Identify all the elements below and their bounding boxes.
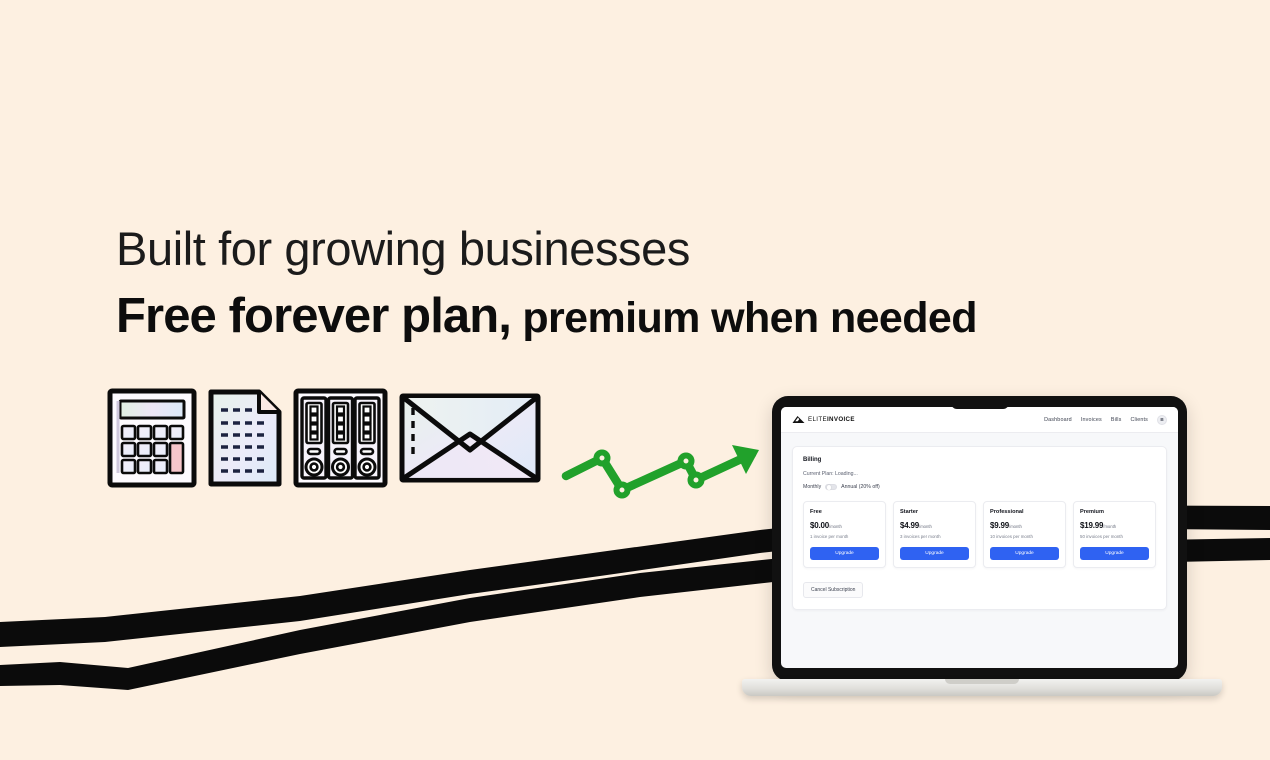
billing-period-switch[interactable] <box>825 484 837 490</box>
navbar-links: Dashboard Invoices Bills Clients B <box>1044 415 1167 425</box>
plan-price: $0.00 <box>810 521 829 530</box>
laptop-base-notch <box>945 679 1019 684</box>
plan-name: Free <box>810 509 879 515</box>
doodle-icon-row <box>107 388 542 488</box>
plan-card-starter: Starter $4.99 /month 3 invoices per mont… <box>893 501 976 568</box>
laptop-camera-notch <box>951 396 1009 409</box>
laptop-screen: ELITEINVOICE Dashboard Invoices Bills Cl… <box>781 407 1178 668</box>
upgrade-button-professional[interactable]: Upgrade <box>990 547 1059 560</box>
nav-link-clients[interactable]: Clients <box>1130 417 1148 423</box>
plan-period: /month <box>829 524 842 529</box>
plan-quota: 50 invoices per month <box>1080 534 1149 539</box>
billing-heading: Billing <box>803 457 1156 463</box>
plan-name: Professional <box>990 509 1059 515</box>
calculator-icon <box>107 388 197 488</box>
plan-price-row: $9.99 /month <box>990 521 1059 530</box>
monthly-label: Monthly <box>803 484 821 490</box>
brand-text: ELITEINVOICE <box>808 416 855 423</box>
plan-card-premium: Premium $19.99 /month 50 invoices per mo… <box>1073 501 1156 568</box>
upgrade-button-free[interactable]: Upgrade <box>810 547 879 560</box>
switch-knob <box>827 485 831 489</box>
plan-quota: 1 invoice per month <box>810 534 879 539</box>
plan-period: /month <box>919 524 932 529</box>
current-plan-status: Current Plan: Loading... <box>803 471 1156 477</box>
plan-price-row: $0.00 /month <box>810 521 879 530</box>
mountain-logo-icon <box>792 415 805 424</box>
nav-link-dashboard[interactable]: Dashboard <box>1044 417 1072 423</box>
cancel-subscription-button[interactable]: Cancel Subscription <box>803 582 863 598</box>
plan-period: /month <box>1009 524 1022 529</box>
brand-bold: INVOICE <box>827 416 855 423</box>
plan-price: $4.99 <box>900 521 919 530</box>
plan-quota: 10 invoices per month <box>990 534 1059 539</box>
avatar[interactable]: B <box>1157 415 1167 425</box>
laptop-mockup: ELITEINVOICE Dashboard Invoices Bills Cl… <box>742 396 1222 708</box>
envelope-icon <box>398 388 542 488</box>
upgrade-button-starter[interactable]: Upgrade <box>900 547 969 560</box>
plan-card-free: Free $0.00 /month 1 invoice per month Up… <box>803 501 886 568</box>
plan-price-row: $19.99 /month <box>1080 521 1149 530</box>
billing-panel: Billing Current Plan: Loading... Monthly… <box>792 446 1167 610</box>
plan-price-row: $4.99 /month <box>900 521 969 530</box>
headline-title-emphasis: Free forever plan, <box>116 289 511 343</box>
plan-quota: 3 invoices per month <box>900 534 969 539</box>
plan-price: $9.99 <box>990 521 1009 530</box>
plan-name: Premium <box>1080 509 1149 515</box>
headline-title-rest: premium when needed <box>511 294 977 342</box>
pricing-plan-grid: Free $0.00 /month 1 invoice per month Up… <box>803 501 1156 568</box>
upgrade-button-premium[interactable]: Upgrade <box>1080 547 1149 560</box>
binders-icon <box>293 388 388 488</box>
app-navbar: ELITEINVOICE Dashboard Invoices Bills Cl… <box>781 407 1178 433</box>
brand-logo[interactable]: ELITEINVOICE <box>792 415 855 424</box>
plan-period: /month <box>1103 524 1116 529</box>
laptop-lid: ELITEINVOICE Dashboard Invoices Bills Cl… <box>772 396 1187 681</box>
headline-subtitle: Built for growing businesses <box>116 222 1116 276</box>
billing-period-toggle-row: Monthly Annual (20% off) <box>803 484 1156 490</box>
hero-copy: Built for growing businesses Free foreve… <box>116 222 1116 344</box>
plan-name: Starter <box>900 509 969 515</box>
brand-light: ELITE <box>808 416 827 423</box>
plan-card-professional: Professional $9.99 /month 10 invoices pe… <box>983 501 1066 568</box>
document-icon <box>207 388 283 488</box>
plan-price: $19.99 <box>1080 521 1103 530</box>
nav-link-bills[interactable]: Bills <box>1111 417 1122 423</box>
app-content: Billing Current Plan: Loading... Monthly… <box>781 433 1178 623</box>
laptop-base <box>742 679 1222 696</box>
headline-title: Free forever plan, premium when needed <box>116 288 1116 344</box>
nav-link-invoices[interactable]: Invoices <box>1081 417 1102 423</box>
annual-label: Annual (20% off) <box>841 484 880 490</box>
